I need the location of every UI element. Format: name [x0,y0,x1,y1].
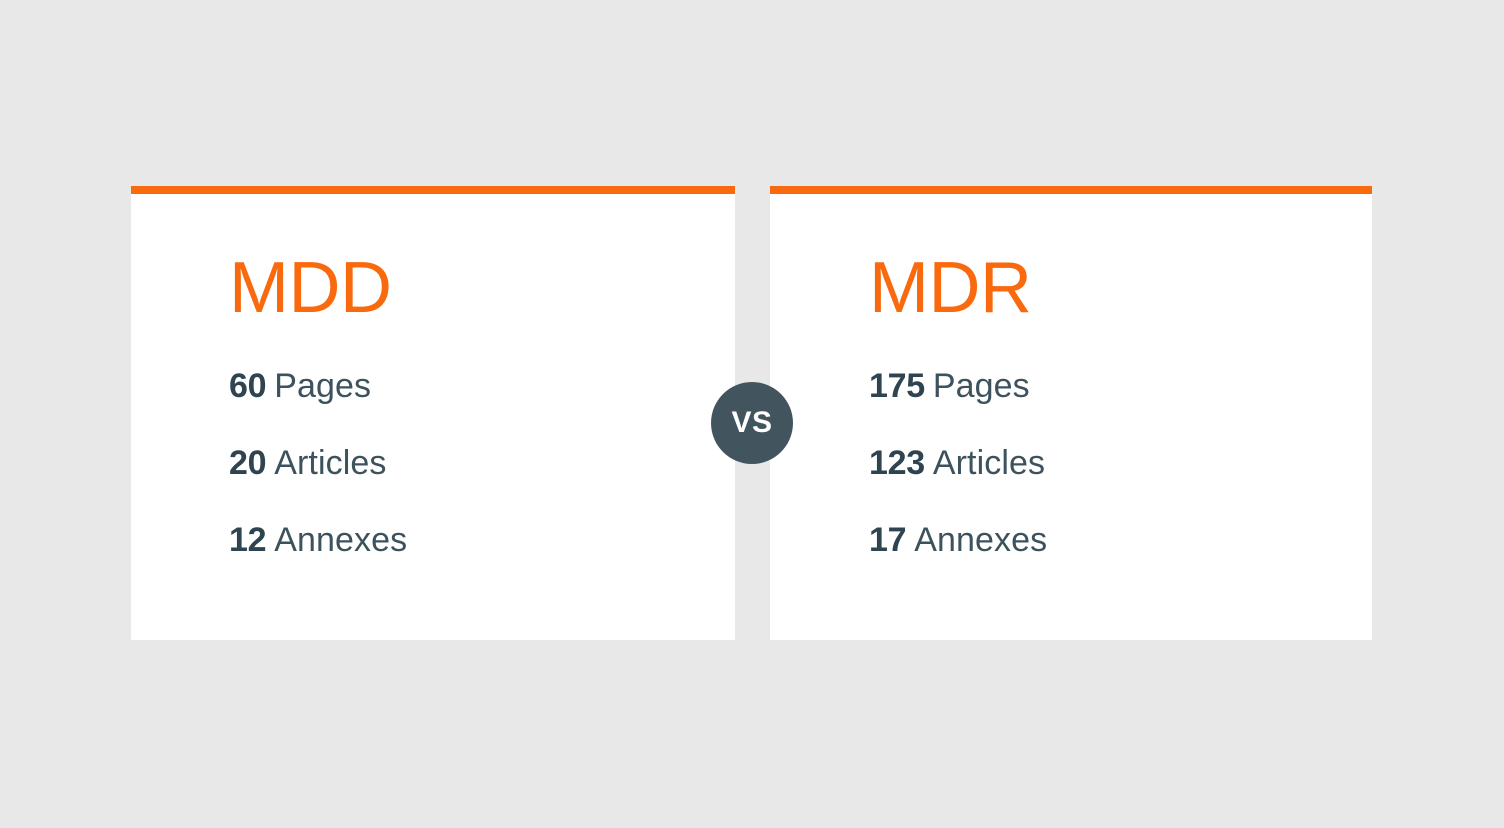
stat-label-pages-mdr: Pages [933,367,1030,405]
stat-value-pages-mdr: 175 [869,367,925,405]
card-accent-bar-mdd [131,186,735,194]
stat-row-articles-mdr: 123Articles [869,441,1471,518]
stat-value-annexes-mdd: 12 [229,521,266,559]
stat-row-pages-mdr: 175Pages [869,364,1471,441]
card-body-mdr: MDR 175Pages 123Articles 17Annexes [770,194,1372,640]
versus-badge-label: VS [731,408,772,438]
stat-value-annexes-mdr: 17 [869,521,906,559]
stat-label-annexes-mdd: Annexes [274,521,407,559]
comparison-card-mdr: MDR 175Pages 123Articles 17Annexes [770,186,1372,640]
stat-value-articles-mdr: 123 [869,444,925,482]
card-body-mdd: MDD 60Pages 20Articles 12Annexes [131,194,735,640]
comparison-card-mdd: MDD 60Pages 20Articles 12Annexes [131,186,735,640]
stat-label-annexes-mdr: Annexes [914,521,1047,559]
card-accent-bar-mdr [770,186,1372,194]
stat-label-articles-mdd: Articles [274,444,386,482]
stat-label-pages-mdd: Pages [274,367,371,405]
stat-value-pages-mdd: 60 [229,367,266,405]
stat-row-annexes-mdr: 17Annexes [869,518,1471,595]
stat-value-articles-mdd: 20 [229,444,266,482]
comparison-infographic: MDD 60Pages 20Articles 12Annexes MDR 175… [0,0,1504,828]
stats-list-mdr: 175Pages 123Articles 17Annexes [770,364,1471,595]
versus-badge: VS [711,382,793,464]
stat-label-articles-mdr: Articles [933,444,1045,482]
card-title-mdr: MDR [869,252,1031,324]
card-title-mdd: MDD [229,252,391,324]
